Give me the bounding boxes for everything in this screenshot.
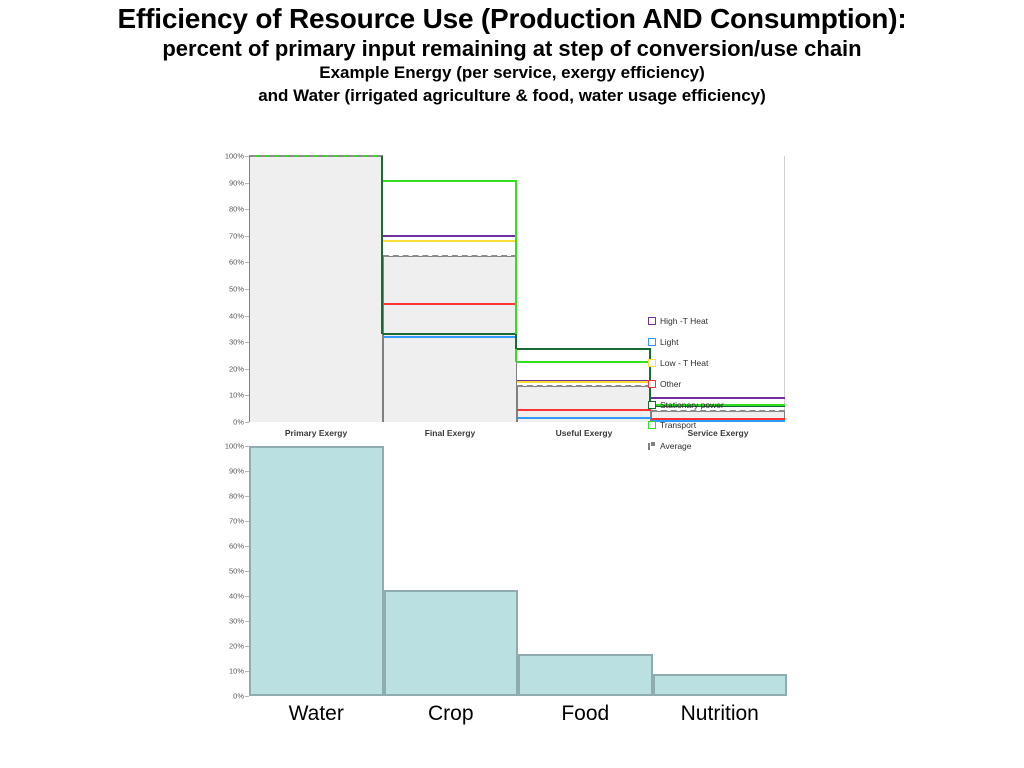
- exergy-series-line-transport: [517, 361, 651, 363]
- exergy-series-line-stationary-power: [383, 333, 517, 335]
- water-y-tick-label: 10%: [229, 667, 244, 676]
- legend-item-stationary-power[interactable]: Stationary power: [648, 394, 778, 415]
- exergy-y-tick-label: 60%: [229, 258, 244, 267]
- legend-item-light[interactable]: Light: [648, 332, 778, 353]
- water-y-tick-label: 40%: [229, 592, 244, 601]
- water-y-tick-label: 0%: [233, 692, 244, 701]
- exergy-y-tick-label: 30%: [229, 338, 244, 347]
- exergy-series-line-average: [517, 385, 651, 387]
- water-x-category-label: Food: [518, 702, 653, 726]
- exergy-column-fill: [383, 256, 517, 422]
- exergy-series-line-low-t-heat: [383, 240, 517, 242]
- exergy-series-line-high-t-heat: [383, 235, 517, 237]
- water-y-tick-label: 50%: [229, 567, 244, 576]
- exergy-y-tick-label: 90%: [229, 178, 244, 187]
- water-x-category-label: Water: [249, 702, 384, 726]
- exergy-efficiency-chart: 100%90%80%70%60%50%40%30%20%10%0% High -…: [0, 150, 820, 450]
- exergy-series-line-light: [517, 417, 651, 419]
- page-subtitle: percent of primary input remaining at st…: [0, 35, 1024, 63]
- water-x-category-label: Crop: [384, 702, 519, 726]
- exergy-y-tick-mark: [245, 422, 249, 423]
- water-bar-nutrition: [653, 674, 788, 697]
- exergy-series-line-light: [383, 336, 517, 338]
- exergy-x-category-label: Primary Exergy: [249, 428, 383, 438]
- water-y-tick-label: 100%: [225, 442, 244, 451]
- legend-item-high-t-heat[interactable]: High -T Heat: [648, 311, 778, 332]
- legend-item-low-t-heat[interactable]: Low - T Heat: [648, 353, 778, 374]
- water-y-tick-label: 80%: [229, 492, 244, 501]
- water-y-tick-label: 70%: [229, 517, 244, 526]
- exergy-x-category-label: Service Exergy: [651, 428, 785, 438]
- exergy-y-tick-label: 50%: [229, 285, 244, 294]
- water-bar-crop: [384, 590, 519, 696]
- legend-swatch-blue-icon: [648, 338, 656, 346]
- legend-item-label: Low - T Heat: [660, 358, 708, 368]
- legend-swatch-yellow-icon: [648, 359, 656, 367]
- exergy-column-fill: [249, 156, 383, 422]
- legend-swatch-red-icon: [648, 380, 656, 388]
- exergy-y-tick-label: 70%: [229, 231, 244, 240]
- exergy-column-final-exergy: [383, 156, 517, 422]
- slide-title-block: Efficiency of Resource Use (Production A…: [0, 0, 1024, 108]
- water-efficiency-chart: 100%90%80%70%60%50%40%30%20%10%0% WaterC…: [0, 440, 820, 760]
- exergy-y-tick-label: 100%: [225, 152, 244, 161]
- water-y-tick-mark: [245, 696, 249, 697]
- water-bar-food: [518, 654, 653, 697]
- exergy-y-tick-label: 20%: [229, 364, 244, 373]
- legend-item-other[interactable]: Other: [648, 373, 778, 394]
- exergy-series-line-average: [383, 255, 517, 257]
- exergy-y-tick-label: 10%: [229, 391, 244, 400]
- exergy-chart-y-axis-labels: 100%90%80%70%60%50%40%30%20%10%0%: [214, 150, 244, 422]
- exergy-series-line-average: [249, 155, 383, 157]
- exergy-column-primary-exergy: [249, 156, 383, 422]
- exergy-series-line-low-t-heat: [517, 381, 651, 383]
- exergy-y-tick-label: 80%: [229, 205, 244, 214]
- page-title: Efficiency of Resource Use (Production A…: [0, 4, 1024, 35]
- legend-item-label: Other: [660, 379, 681, 389]
- exergy-series-line-stationary-power: [517, 348, 651, 350]
- exergy-series-line-other: [517, 409, 651, 411]
- legend-swatch-purple-icon: [648, 317, 656, 325]
- slide-root: Efficiency of Resource Use (Production A…: [0, 0, 1024, 768]
- exergy-x-category-label: Final Exergy: [383, 428, 517, 438]
- water-y-tick-label: 90%: [229, 467, 244, 476]
- water-chart-y-axis-labels: 100%90%80%70%60%50%40%30%20%10%0%: [214, 440, 244, 696]
- water-y-tick-label: 30%: [229, 617, 244, 626]
- water-bar-water: [249, 446, 384, 696]
- exergy-y-tick-label: 0%: [233, 418, 244, 427]
- exergy-x-category-label: Useful Exergy: [517, 428, 651, 438]
- water-y-tick-label: 20%: [229, 642, 244, 651]
- exergy-series-line-other: [383, 303, 517, 305]
- water-y-tick-label: 60%: [229, 542, 244, 551]
- water-chart-plot-area: [249, 446, 787, 696]
- legend-item-label: High -T Heat: [660, 316, 708, 326]
- exergy-column-useful-exergy: [517, 156, 651, 422]
- page-subtitle-energy: Example Energy (per service, exergy effi…: [0, 62, 1024, 85]
- water-x-category-label: Nutrition: [653, 702, 788, 726]
- legend-item-label: Light: [660, 337, 678, 347]
- legend-item-label: Stationary power: [660, 400, 724, 410]
- exergy-series-line-transport: [383, 180, 517, 182]
- exergy-y-tick-label: 40%: [229, 311, 244, 320]
- legend-swatch-dark-green-icon: [648, 401, 656, 409]
- page-subtitle-water: and Water (irrigated agriculture & food,…: [0, 85, 1024, 108]
